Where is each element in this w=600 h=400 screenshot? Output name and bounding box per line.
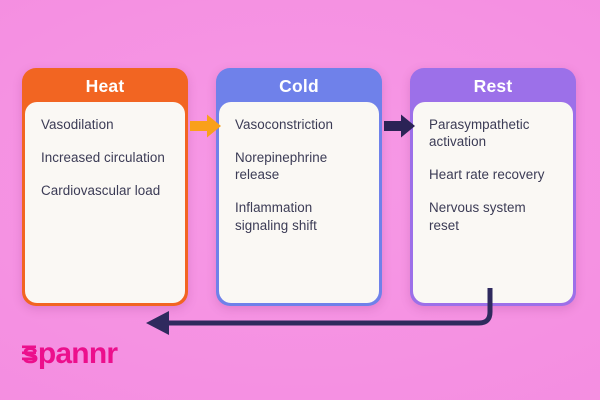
- spannr-wordmark-text: spannr: [22, 337, 118, 370]
- stage-title-cold: Cold: [219, 71, 379, 102]
- logo-strike-lower: [22, 358, 36, 361]
- stage-item: Vasoconstriction: [235, 116, 365, 133]
- stage-card-rest[interactable]: Rest Parasympathetic activation Heart ra…: [410, 68, 576, 306]
- stage-body-rest: Parasympathetic activation Heart rate re…: [413, 102, 573, 303]
- stage-item: Cardiovascular load: [41, 182, 171, 199]
- stage-item: Inflammation signaling shift: [235, 199, 365, 233]
- stage-item: Increased circulation: [41, 149, 171, 166]
- arrow-right-icon-cold-to-rest: [384, 113, 416, 139]
- stage-item: Norepinephrine release: [235, 149, 365, 183]
- diagram-canvas: Heat Vasodilation Increased circulation …: [0, 0, 600, 400]
- stage-item: Parasympathetic activation: [429, 116, 559, 150]
- stage-item: Heart rate recovery: [429, 166, 559, 183]
- arrow-right-icon-heat-to-cold: [190, 113, 222, 139]
- spannr-logo[interactable]: spannr: [22, 334, 154, 372]
- arrow-left-icon-rest-to-heat-loop: [138, 288, 506, 336]
- stage-card-heat[interactable]: Heat Vasodilation Increased circulation …: [22, 68, 188, 306]
- stage-body-heat: Vasodilation Increased circulation Cardi…: [25, 102, 185, 303]
- stage-card-cold[interactable]: Cold Vasoconstriction Norepinephrine rel…: [216, 68, 382, 306]
- logo-strike-middle: [22, 352, 36, 355]
- stage-body-cold: Vasoconstriction Norepinephrine release …: [219, 102, 379, 303]
- logo-strike-upper: [22, 346, 36, 349]
- stage-item: Nervous system reset: [429, 199, 559, 233]
- stage-item: Vasodilation: [41, 116, 171, 133]
- stage-title-heat: Heat: [25, 71, 185, 102]
- stage-title-rest: Rest: [413, 71, 573, 102]
